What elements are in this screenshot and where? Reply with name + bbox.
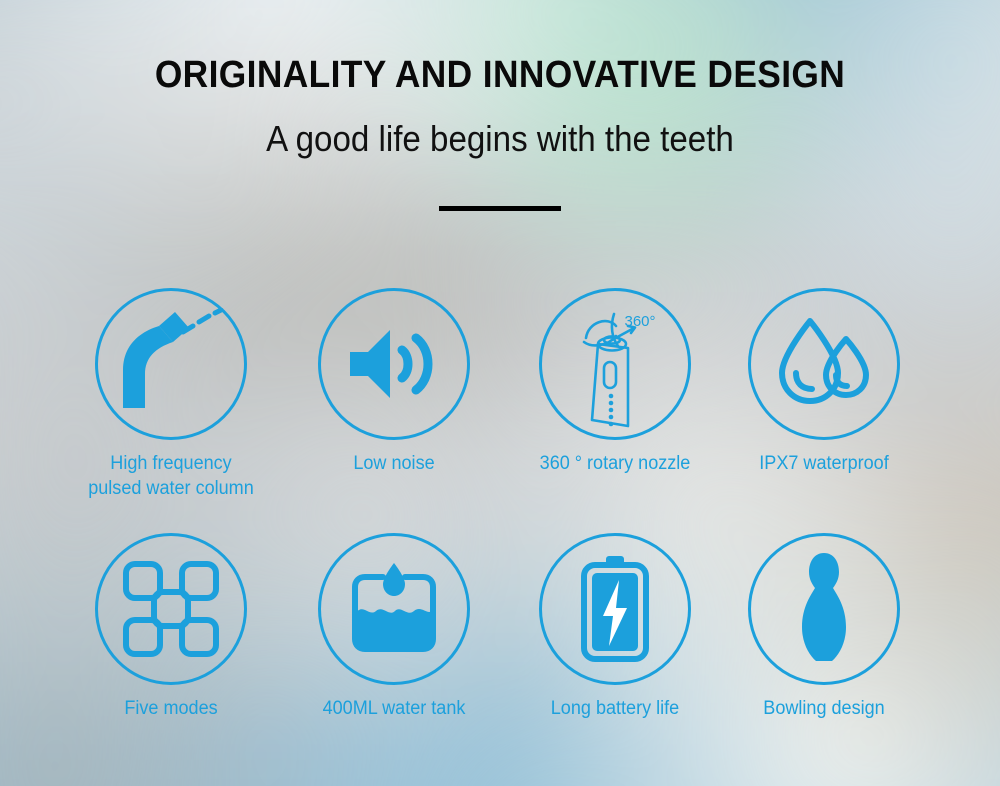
- water-jet-nozzle-icon: [115, 308, 227, 420]
- feature-label: 400ML water tank: [275, 696, 513, 721]
- feature-label: Five modes: [52, 696, 290, 721]
- feature-icon-circle: [95, 533, 247, 685]
- bowling-pin-icon: [790, 551, 858, 667]
- feature-icon-circle: [539, 533, 691, 685]
- feature-label: High frequency pulsed water column: [52, 451, 290, 501]
- page-subtitle: A good life begins with the teeth: [40, 118, 960, 160]
- water-tank-icon: [351, 561, 437, 657]
- led-dots: [609, 394, 614, 427]
- page-title: ORIGINALITY AND INNOVATIVE DESIGN: [35, 54, 965, 97]
- feature-grid: High frequency pulsed water column Low n…: [0, 288, 1000, 778]
- four-modes-grid-icon: [121, 559, 221, 659]
- feature-icon-circle: [748, 533, 900, 685]
- feature-label: Low noise: [275, 451, 513, 476]
- feature-label: IPX7 waterproof: [705, 451, 943, 476]
- feature-icon-circle: [95, 288, 247, 440]
- droplet-shape: [383, 563, 405, 596]
- feature-item-five-modes[interactable]: Five modes: [46, 533, 296, 721]
- rotary-nozzle-360-icon: 360°: [554, 300, 676, 428]
- feature-item-water-tank[interactable]: 400ML water tank: [269, 533, 519, 721]
- rotation-badge-text: 360°: [624, 313, 655, 330]
- water-fill: [356, 609, 432, 647]
- feature-item-high-frequency[interactable]: High frequency pulsed water column: [46, 288, 296, 501]
- battery-charge-icon: [581, 556, 649, 662]
- title-divider: [439, 206, 561, 211]
- content-container: ORIGINALITY AND INNOVATIVE DESIGN A good…: [0, 0, 1000, 786]
- feature-icon-circle: 360°: [539, 288, 691, 440]
- feature-item-low-noise[interactable]: Low noise: [269, 288, 519, 476]
- water-droplets-icon: [774, 317, 874, 411]
- feature-icon-circle: [318, 288, 470, 440]
- feature-row-2: Five modes 400ML water tank: [0, 533, 1000, 778]
- feature-icon-circle: [318, 533, 470, 685]
- feature-item-bowling-design[interactable]: Bowling design: [699, 533, 949, 721]
- feature-icon-circle: [748, 288, 900, 440]
- feature-row-1: High frequency pulsed water column Low n…: [0, 288, 1000, 533]
- feature-item-waterproof[interactable]: IPX7 waterproof: [699, 288, 949, 476]
- feature-label: Bowling design: [705, 696, 943, 721]
- speaker-low-volume-icon: [346, 324, 442, 404]
- infographic-banner: ORIGINALITY AND INNOVATIVE DESIGN A good…: [0, 0, 1000, 786]
